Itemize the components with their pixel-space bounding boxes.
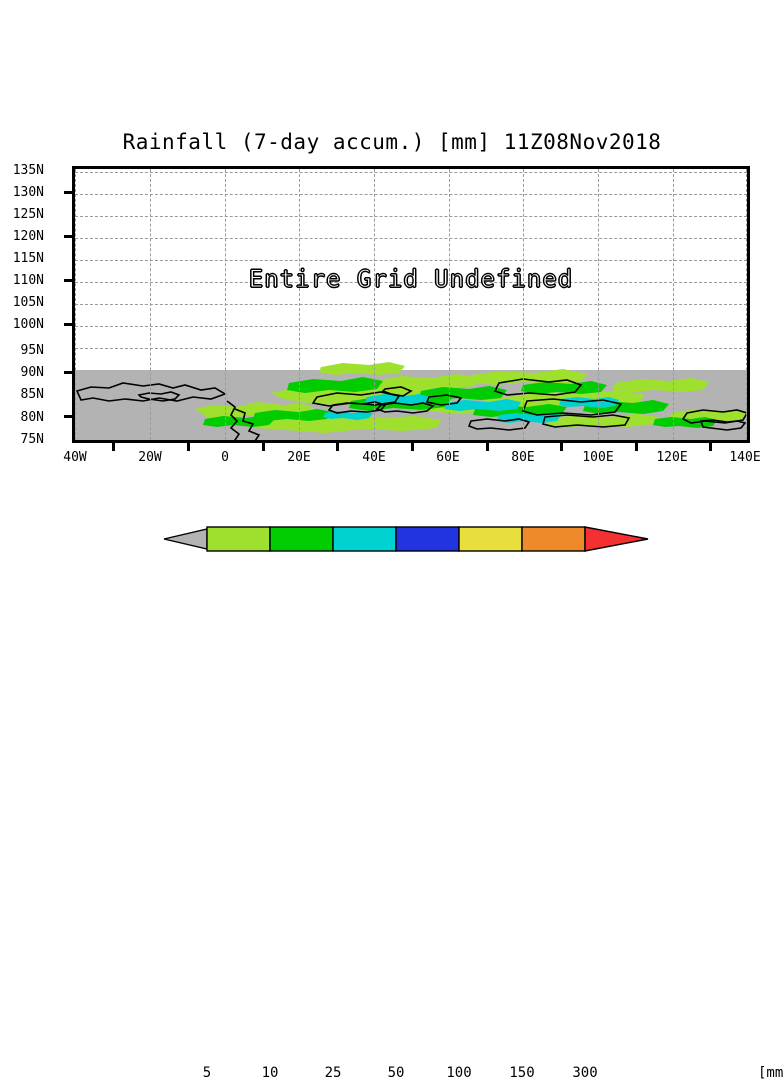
y-tick-label: 85N <box>0 387 44 402</box>
x-tick-label: 140E <box>705 450 784 465</box>
y-tick-label: 90N <box>0 365 44 380</box>
colorbar-tick-100: 100 <box>429 1065 489 1081</box>
colorbar-tick-10: 10 <box>240 1065 300 1081</box>
y-tick-label: 115N <box>0 251 44 266</box>
x-tick-mark <box>411 443 414 451</box>
y-tick-label: 125N <box>0 207 44 222</box>
colorbar-band-150-300 <box>522 527 585 551</box>
y-tick-label: 100N <box>0 317 44 332</box>
colorbar-band-under <box>164 529 207 549</box>
x-tick-label: 40E <box>334 450 414 465</box>
colorbar-units-label: [mm] <box>758 1065 784 1081</box>
colorbar-tick-150: 150 <box>492 1065 552 1081</box>
x-tick-mark <box>709 443 712 451</box>
colorbar-band-50-100 <box>396 527 459 551</box>
y-tick-label: 75N <box>0 432 44 447</box>
y-tick-label: 130N <box>0 185 44 200</box>
x-tick-mark <box>112 443 115 451</box>
x-tick-mark <box>560 443 563 451</box>
y-tick-label: 120N <box>0 229 44 244</box>
entire-grid-undefined-message: Entire Grid Undefined <box>75 265 747 293</box>
y-tick-label: 105N <box>0 295 44 310</box>
colorbar-tick-5: 5 <box>177 1065 237 1081</box>
colorbar-band-10-25 <box>270 527 333 551</box>
colorbar-band-5-10 <box>207 527 270 551</box>
y-tick-mark <box>64 323 73 326</box>
x-tick-label: 80E <box>483 450 563 465</box>
y-tick-mark <box>64 191 73 194</box>
y-tick-mark <box>64 279 73 282</box>
x-tick-label: 20W <box>110 450 190 465</box>
x-tick-label: 120E <box>632 450 712 465</box>
colorbar-tick-300: 300 <box>555 1065 615 1081</box>
x-tick-mark <box>262 443 265 451</box>
x-tick-label: 0 <box>185 450 265 465</box>
colorbar-tick-50: 50 <box>366 1065 426 1081</box>
y-tick-label: 135N <box>0 163 44 178</box>
x-tick-mark <box>187 443 190 451</box>
y-tick-mark <box>64 371 73 374</box>
colorbar-band-100-150 <box>459 527 522 551</box>
x-tick-label: 100E <box>558 450 638 465</box>
y-tick-label: 95N <box>0 343 44 358</box>
x-tick-label: 60E <box>408 450 488 465</box>
colorbar-band-25-50 <box>333 527 396 551</box>
x-tick-mark <box>635 443 638 451</box>
x-tick-mark <box>486 443 489 451</box>
y-tick-mark <box>64 235 73 238</box>
colorbar: 5 10 25 50 100 150 300 [mm] <box>160 522 660 572</box>
y-tick-label: 110N <box>0 273 44 288</box>
colorbar-swatches <box>160 522 660 556</box>
y-tick-mark <box>64 415 73 418</box>
map-plot-area: Entire Grid Undefined <box>72 166 750 443</box>
colorbar-tick-25: 25 <box>303 1065 363 1081</box>
x-tick-label: 40W <box>35 450 115 465</box>
x-tick-label: 20E <box>259 450 339 465</box>
page-title: Rainfall (7-day accum.) [mm] 11Z08Nov201… <box>0 130 784 154</box>
colorbar-band-over <box>585 527 648 551</box>
y-tick-label: 80N <box>0 410 44 425</box>
map-canvas <box>75 169 747 440</box>
x-tick-mark <box>336 443 339 451</box>
